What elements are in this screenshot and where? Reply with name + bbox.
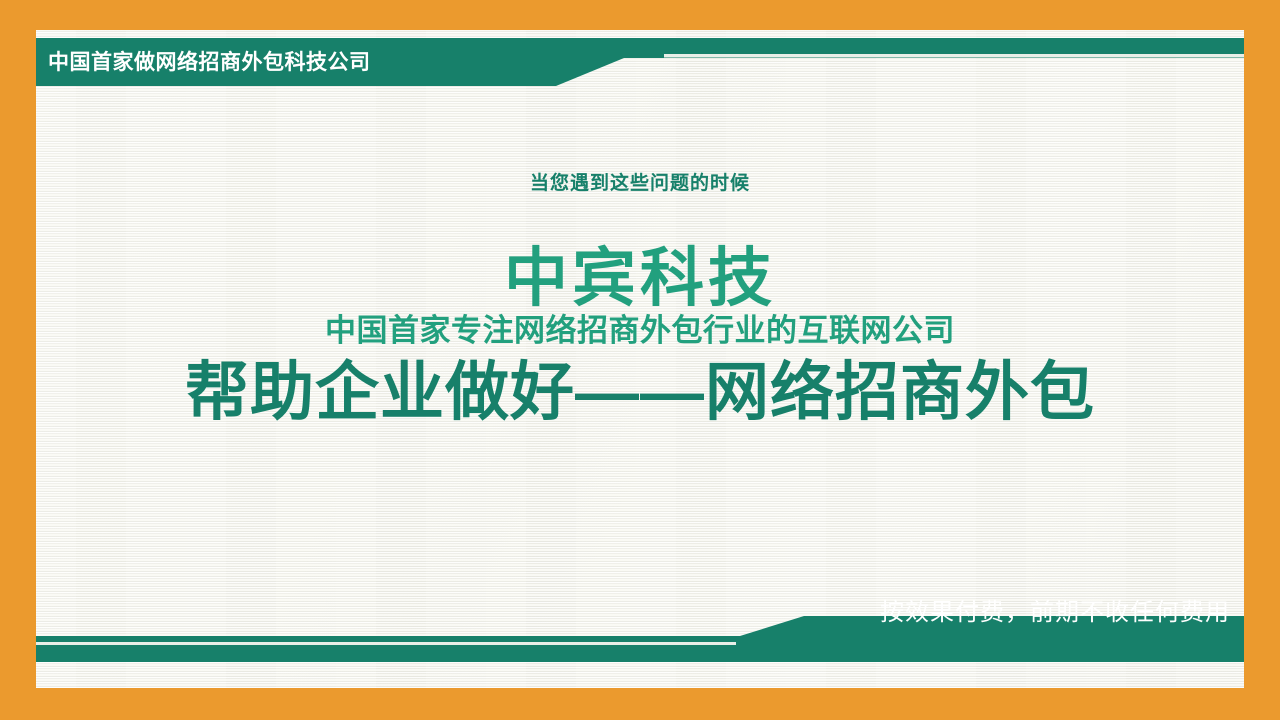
tagline-text: 中国首家专注网络招商外包行业的互联网公司 (36, 315, 1244, 348)
brand-name: 中宾科技 (36, 245, 1244, 312)
slide-content-panel: 中国首家做网络招商外包科技公司 当您遇到这些问题的时候 中宾科技 中国首家专注网… (36, 30, 1244, 688)
header-banner-hairline (664, 54, 1244, 58)
header-banner: 中国首家做网络招商外包科技公司 (36, 38, 1244, 86)
footer-banner: 按效果付费，前期不收任何费用 (36, 616, 1244, 662)
footer-banner-text: 按效果付费，前期不收任何费用 (880, 598, 1230, 628)
eyebrow-text: 当您遇到这些问题的时候 (36, 168, 1244, 195)
footer-banner-hairline (36, 642, 736, 645)
header-banner-title: 中国首家做网络招商外包科技公司 (48, 48, 371, 78)
slide-canvas: 中国首家做网络招商外包科技公司 当您遇到这些问题的时候 中宾科技 中国首家专注网… (0, 0, 1280, 720)
headline-text: 帮助企业做好——网络招商外包 (36, 357, 1244, 427)
